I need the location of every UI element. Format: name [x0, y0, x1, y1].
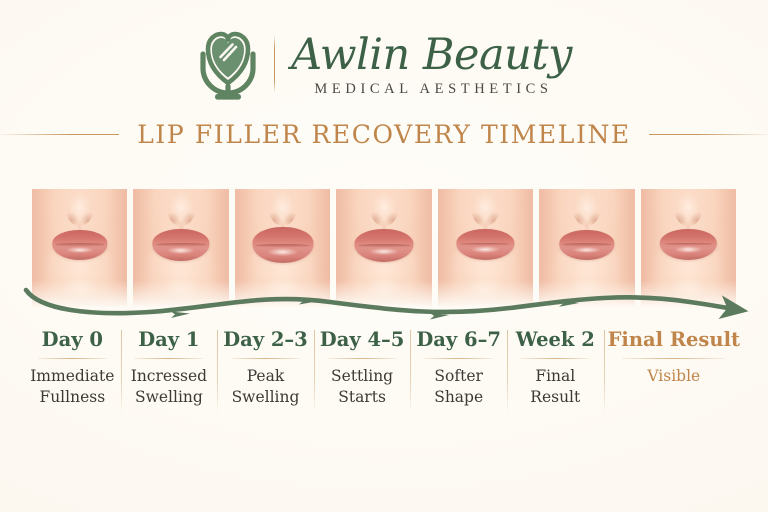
- lips-final-result: [641, 189, 736, 309]
- column-rule: [38, 358, 107, 359]
- wordmark: Awlin Beauty MEDICAL AESTHETICS: [291, 30, 572, 98]
- chin: [364, 278, 404, 307]
- lips-day-6-7: [438, 189, 533, 309]
- title-rule-left: [0, 134, 119, 135]
- page-title: LIP FILLER RECOVERY TIMELINE: [137, 120, 631, 149]
- lips-day-4-5: [336, 189, 431, 309]
- stage-description: Peak Swelling: [232, 366, 300, 408]
- lips-day-2-3: [235, 189, 330, 309]
- timeline-column-4[interactable]: Day 4–5Settling Starts: [314, 328, 411, 424]
- timeline-column-3[interactable]: Day 2–3Peak Swelling: [217, 328, 314, 424]
- day-label: Day 2–3: [223, 328, 308, 352]
- day-label: Final Result: [608, 328, 740, 352]
- stage-description: Final Result: [530, 366, 580, 408]
- timeline-column-5[interactable]: Day 6–7Softer Shape: [410, 328, 507, 424]
- day-label: Week 2: [516, 328, 595, 352]
- column-rule: [134, 358, 203, 359]
- stage-description: Visible: [647, 366, 700, 387]
- infographic-page: Awlin Beauty MEDICAL AESTHETICS LIP FILL…: [0, 0, 768, 512]
- title-rule-right: [649, 134, 768, 135]
- day-label: Day 1: [138, 328, 199, 352]
- column-rule: [521, 358, 590, 359]
- timeline-column-2[interactable]: Day 1Incressed Swelling: [121, 328, 218, 424]
- timeline-column-6[interactable]: Week 2Final Result: [507, 328, 604, 424]
- brand-subtitle: MEDICAL AESTHETICS: [310, 81, 552, 98]
- stage-description: Settling Starts: [331, 366, 393, 408]
- stage-description: Incressed Swelling: [131, 366, 207, 408]
- brand-name: Awlin Beauty: [291, 32, 572, 78]
- column-rule: [424, 358, 493, 359]
- chin: [161, 278, 201, 307]
- column-rule: [231, 358, 300, 359]
- chin: [60, 278, 100, 307]
- chin: [567, 278, 607, 307]
- lips: [354, 229, 413, 263]
- stage-description: Immediate Fullness: [30, 366, 114, 408]
- chin: [263, 278, 303, 307]
- day-label: Day 0: [42, 328, 103, 352]
- column-rule: [622, 358, 725, 359]
- timeline-column-7[interactable]: Final ResultVisible: [604, 328, 744, 424]
- lips-week-2: [539, 189, 634, 309]
- brand-divider: [274, 35, 275, 93]
- lip-image-strip: [32, 189, 736, 309]
- stage-description: Softer Shape: [434, 366, 483, 408]
- day-label: Day 6–7: [416, 328, 501, 352]
- heart-mirror-icon: [196, 26, 260, 102]
- timeline-labels: Day 0Immediate FullnessDay 1Incressed Sw…: [24, 328, 744, 424]
- lips: [252, 227, 313, 263]
- chin: [465, 278, 505, 307]
- brand-header: Awlin Beauty MEDICAL AESTHETICS: [0, 22, 768, 106]
- day-label: Day 4–5: [320, 328, 405, 352]
- chin: [668, 278, 708, 307]
- lips-day-0: [32, 189, 127, 309]
- title-band: LIP FILLER RECOVERY TIMELINE: [0, 118, 768, 150]
- timeline-column-1[interactable]: Day 0Immediate Fullness: [24, 328, 121, 424]
- lips-day-1: [133, 189, 228, 309]
- column-rule: [328, 358, 397, 359]
